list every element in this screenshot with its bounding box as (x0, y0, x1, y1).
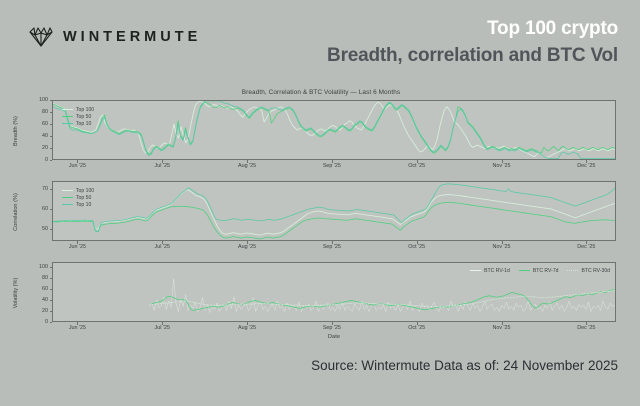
series-line-top-100 (53, 190, 615, 235)
y-tick-label: 20 (24, 145, 48, 151)
x-tick-label: Oct '25 (397, 325, 437, 331)
x-tick-mark (162, 322, 163, 325)
x-tick-mark (417, 241, 418, 244)
legend-item-top-50[interactable]: Top 50 (62, 113, 94, 120)
x-tick-mark (162, 160, 163, 163)
x-axis-label: Date (52, 334, 616, 340)
x-tick-mark (77, 241, 78, 244)
x-tick-mark (247, 160, 248, 163)
breadth-legend: Top 100Top 50Top 10 (62, 106, 94, 127)
x-tick-mark (247, 241, 248, 244)
y-tick-mark (50, 124, 53, 125)
y-tick-mark (50, 278, 53, 279)
chart-figure: Breadth, Correlation & BTC Volatility — … (14, 88, 628, 344)
y-tick-mark (50, 136, 53, 137)
x-tick-mark (502, 322, 503, 325)
wintermute-diamond-logo-icon (28, 26, 54, 48)
series-line-top-10 (53, 101, 615, 158)
legend-item-top-10[interactable]: Top 10 (62, 120, 94, 127)
y-tick-mark (50, 100, 53, 101)
x-tick-mark (332, 241, 333, 244)
x-tick-label: Jun '25 (57, 244, 97, 250)
legend-swatch-icon (62, 109, 73, 110)
title-primary: Top 100 crypto (327, 16, 618, 42)
y-tick-mark (50, 160, 53, 161)
x-tick-label: Dec '25 (566, 325, 606, 331)
y-tick-label: 40 (24, 297, 48, 303)
x-tick-label: Sep '25 (312, 244, 352, 250)
legend-label: Top 100 (76, 188, 94, 194)
series-line-top-50 (53, 102, 615, 154)
legend-label: BTC RV-30d (581, 268, 610, 274)
series-line-btc-rv-30d (154, 290, 615, 306)
correlation-legend: Top 100Top 50Top 10 (62, 187, 94, 208)
x-tick-mark (502, 160, 503, 163)
legend-item-top-100[interactable]: Top 100 (62, 187, 94, 194)
legend-swatch-icon (519, 270, 530, 271)
x-tick-label: Sep '25 (312, 163, 352, 169)
legend-swatch-icon (62, 204, 73, 205)
x-tick-mark (162, 241, 163, 244)
y-tick-mark (50, 229, 53, 230)
x-tick-mark (332, 160, 333, 163)
legend-item-top-100[interactable]: Top 100 (62, 106, 94, 113)
y-tick-label: 100 (24, 264, 48, 270)
y-tick-mark (50, 189, 53, 190)
y-tick-label: 60 (24, 206, 48, 212)
y-tick-label: 40 (24, 133, 48, 139)
legend-swatch-icon (62, 197, 73, 198)
legend-item-top-10[interactable]: Top 10 (62, 201, 94, 208)
legend-label: BTC RV-7d (533, 268, 559, 274)
series-line-btc-rv-1d (149, 279, 615, 313)
legend-item-top-50[interactable]: Top 50 (62, 194, 94, 201)
correlation-y-axis-label: Correlation (%) (13, 182, 19, 242)
x-tick-mark (417, 160, 418, 163)
legend-swatch-icon (62, 190, 73, 191)
y-tick-mark (50, 267, 53, 268)
header: WINTERMUTE Top 100 crypto Breadth, corre… (0, 0, 640, 88)
y-tick-mark (50, 148, 53, 149)
x-tick-mark (586, 160, 587, 163)
x-tick-label: Nov '25 (482, 325, 522, 331)
y-tick-mark (50, 322, 53, 323)
legend-label: Top 50 (76, 195, 91, 201)
x-tick-label: Aug '25 (227, 163, 267, 169)
brand-wordmark: WINTERMUTE (63, 29, 201, 45)
y-tick-mark (50, 300, 53, 301)
y-tick-label: 80 (24, 275, 48, 281)
series-line-top-10 (53, 184, 615, 232)
legend-swatch-icon (62, 116, 73, 117)
series-line-btc-rv-7d (152, 290, 615, 311)
y-tick-label: 100 (24, 97, 48, 103)
x-tick-mark (586, 241, 587, 244)
source-footer: Source: Wintermute Data as of: 24 Novemb… (311, 358, 618, 373)
legend-label: Top 10 (76, 121, 91, 127)
x-tick-label: Sep '25 (312, 325, 352, 331)
x-tick-label: Dec '25 (566, 163, 606, 169)
y-tick-label: 60 (24, 286, 48, 292)
legend-swatch-icon (62, 123, 73, 124)
legend-label: Top 10 (76, 202, 91, 208)
x-tick-label: Jun '25 (57, 325, 97, 331)
legend-label: BTC RV-1d (484, 268, 510, 274)
legend-item-btc-rv-1d[interactable]: BTC RV-1d (470, 267, 510, 274)
y-tick-mark (50, 311, 53, 312)
x-tick-mark (586, 322, 587, 325)
x-tick-mark (77, 322, 78, 325)
breadth-y-axis-label: Breadth (%) (13, 101, 19, 161)
y-tick-label: 80 (24, 109, 48, 115)
x-tick-mark (417, 322, 418, 325)
x-tick-mark (247, 322, 248, 325)
figure-title: Breadth, Correlation & BTC Volatility — … (14, 89, 628, 96)
x-tick-label: Jul '25 (142, 244, 182, 250)
series-line-top-50 (53, 202, 615, 239)
volatility-y-axis-label: Volatility (%) (13, 263, 19, 323)
page-title: Top 100 crypto Breadth, correlation and … (327, 16, 618, 68)
y-tick-mark (50, 209, 53, 210)
title-secondary: Breadth, correlation and BTC Vol (327, 43, 618, 69)
y-tick-mark (50, 112, 53, 113)
x-tick-label: Jul '25 (142, 325, 182, 331)
breadth-chart-panel (52, 100, 616, 160)
x-tick-label: Aug '25 (227, 244, 267, 250)
y-tick-label: 20 (24, 308, 48, 314)
x-tick-label: Nov '25 (482, 244, 522, 250)
x-tick-label: Jul '25 (142, 163, 182, 169)
x-tick-mark (502, 241, 503, 244)
legend-swatch-icon (567, 270, 578, 271)
x-tick-mark (77, 160, 78, 163)
x-tick-mark (332, 322, 333, 325)
legend-item-btc-rv-7d[interactable]: BTC RV-7d (519, 267, 559, 274)
breadth-plot (53, 101, 615, 159)
y-tick-label: 0 (24, 319, 48, 325)
x-tick-label: Oct '25 (397, 244, 437, 250)
legend-label: Top 100 (76, 107, 94, 113)
x-tick-label: Nov '25 (482, 163, 522, 169)
brand-logo: WINTERMUTE (28, 26, 201, 48)
legend-swatch-icon (470, 270, 481, 271)
y-tick-mark (50, 289, 53, 290)
correlation-plot (53, 182, 615, 240)
y-tick-label: 50 (24, 226, 48, 232)
x-tick-label: Dec '25 (566, 244, 606, 250)
y-tick-label: 60 (24, 121, 48, 127)
x-tick-label: Jun '25 (57, 163, 97, 169)
correlation-chart-panel (52, 181, 616, 241)
x-tick-label: Oct '25 (397, 163, 437, 169)
legend-label: Top 50 (76, 114, 91, 120)
legend-item-btc-rv-30d[interactable]: BTC RV-30d (567, 267, 610, 274)
x-tick-label: Aug '25 (227, 325, 267, 331)
y-tick-label: 70 (24, 186, 48, 192)
y-tick-label: 0 (24, 157, 48, 163)
volatility-legend: BTC RV-1dBTC RV-7dBTC RV-30d (470, 267, 610, 274)
